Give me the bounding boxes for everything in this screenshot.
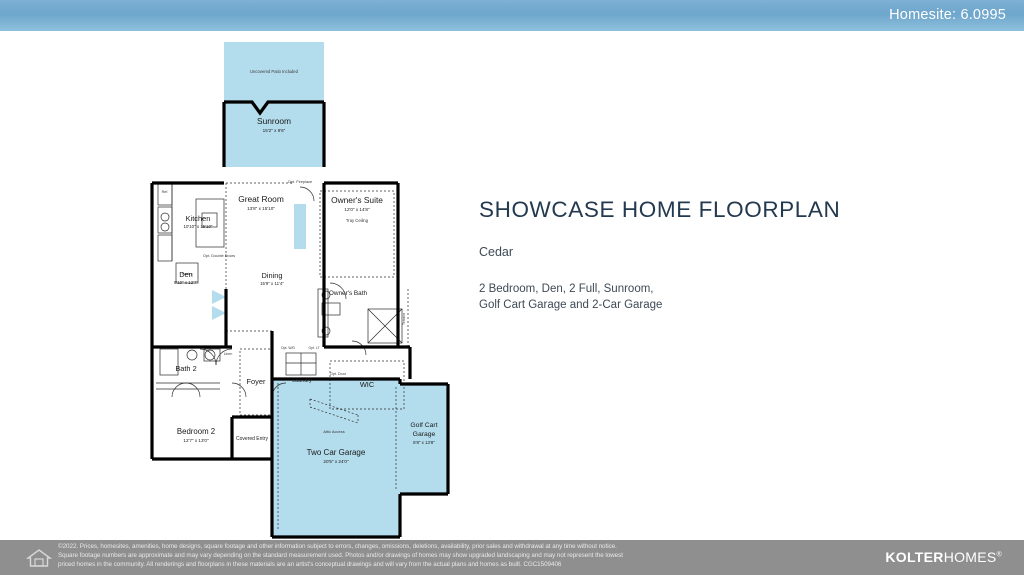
label-laundry: Laundry: [292, 378, 312, 384]
golf-cart-garage-fill: [400, 384, 448, 494]
label-owners-suite: Owner's Suite: [331, 195, 383, 205]
label-linen: Linen: [224, 352, 233, 356]
label-bedroom2: Bedroom 2: [177, 427, 215, 436]
label-owners-suite-dim: 12'0" x 14'8": [344, 207, 370, 212]
label-refrigerator: Ref.: [162, 190, 169, 194]
sunroom-fill: [224, 102, 324, 167]
label-golf-cart-garage: Golf Cart: [410, 422, 437, 429]
header-band: Homesite: 6.0995: [0, 0, 1024, 31]
label-attic-access: Attic Access: [323, 429, 345, 434]
floorplan-drawing: Uncovered Patio Included Sunroom 15'2" x…: [0, 31, 470, 540]
label-golf-cart-garage-dim: 8'8" x 13'8": [413, 440, 435, 445]
home-icon: [26, 548, 52, 568]
brand-homes: HOMES: [944, 549, 997, 565]
label-dining: Dining: [262, 271, 283, 280]
label-owners-bath: Owner's Bath: [329, 290, 368, 297]
plan-description-line-2: Golf Cart Garage and 2-Car Garage: [479, 297, 909, 314]
label-opt-fireplace: Opt. Fireplace: [288, 179, 312, 184]
label-den-dim: 9'10" x 12'7": [174, 280, 199, 285]
legal-disclaimer: ©2022. Prices, homesites, amenities, hom…: [58, 543, 870, 570]
den-door-swing-fill: [212, 290, 226, 304]
label-sunroom: Sunroom: [257, 116, 291, 126]
plan-description: 2 Bedroom, Den, 2 Full, Sunroom, Golf Ca…: [479, 281, 909, 314]
label-foyer: Foyer: [247, 377, 266, 386]
legal-line-3: priced homes in the community. All rende…: [58, 561, 870, 570]
legal-line-1: ©2022. Prices, homesites, amenities, hom…: [58, 543, 870, 552]
label-opt-door: Opt. Door: [330, 372, 347, 376]
legal-line-2: Square footage numbers are approximate a…: [58, 552, 870, 561]
label-opt-double-doors: Opt. Double Doors: [203, 253, 235, 258]
label-covered-entry: Covered Entry: [236, 436, 268, 442]
page-title: SHOWCASE HOME FLOORPLAN: [479, 198, 909, 223]
label-terrace: Terrace: [402, 313, 406, 325]
brand-registered-mark: ®: [997, 551, 1002, 558]
label-two-car-garage: Two Car Garage: [307, 448, 366, 457]
plan-info-panel: SHOWCASE HOME FLOORPLAN Cedar 2 Bedroom,…: [479, 198, 909, 314]
two-car-garage-fill: [272, 379, 400, 537]
plan-description-line-1: 2 Bedroom, Den, 2 Full, Sunroom,: [479, 281, 909, 298]
homesite-label: Homesite: 6.0995: [889, 7, 1006, 23]
label-bedroom2-dim: 12'7" x 13'0": [183, 438, 209, 443]
label-great-room-dim: 13'8" x 15'10": [247, 206, 275, 211]
fireplace-fill: [294, 204, 306, 249]
label-tray-ceiling: Tray Ceiling: [346, 218, 369, 223]
label-dining-dim: 15'9" x 11'4": [260, 281, 284, 286]
plan-name: Cedar: [479, 245, 909, 259]
label-two-car-garage-dim: 20'5" x 24'0": [323, 459, 349, 464]
label-great-room: Great Room: [238, 194, 284, 204]
label-sunroom-dim: 15'2" x 9'6": [263, 128, 286, 133]
den-door-swing-fill-2: [212, 306, 226, 320]
label-golf-cart-garage-2: Garage: [413, 431, 436, 438]
label-patio: Uncovered Patio Included: [250, 69, 299, 74]
label-kitchen: Kitchen: [186, 214, 211, 223]
brand-kolter: KOLTER: [885, 549, 943, 565]
label-den: Den: [179, 270, 193, 279]
kolter-homes-logo: KOLTERHOMES®: [885, 549, 1002, 565]
label-opt-wd: Opt. W/D: [281, 346, 295, 350]
label-opt-lt: Opt. LT: [308, 346, 319, 350]
label-bath2: Bath 2: [175, 364, 196, 373]
label-wic: WIC: [360, 380, 375, 389]
label-kitchen-dim: 10'10" x 15'10": [184, 224, 213, 229]
